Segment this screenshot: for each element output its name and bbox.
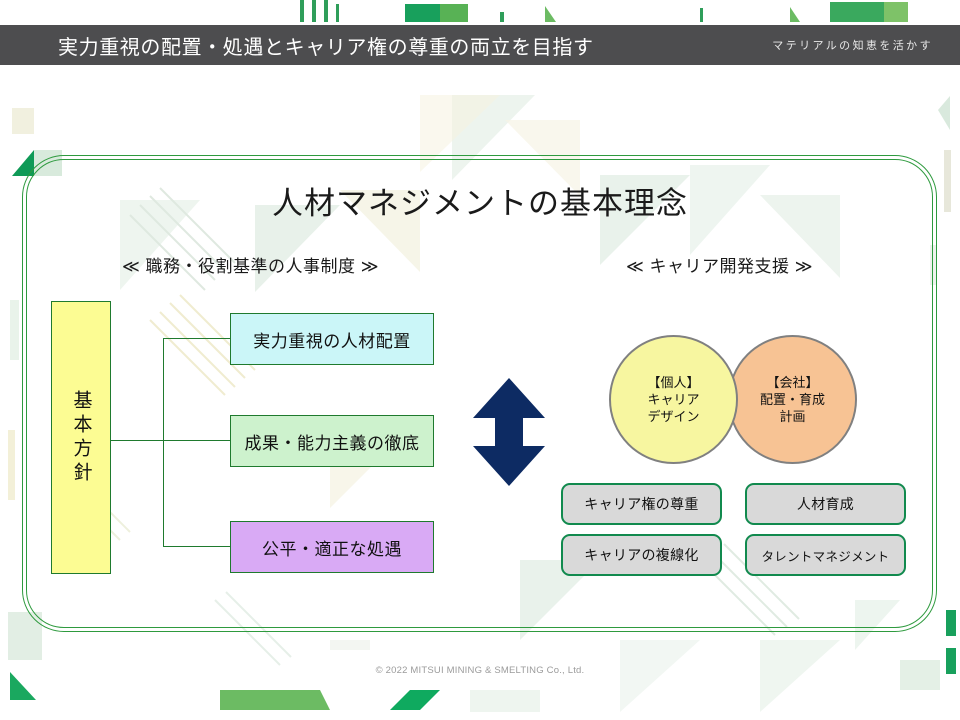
pillar-box-staffing: 実力重視の人材配置	[230, 313, 434, 365]
basic-policy-label: 基本方針	[72, 390, 91, 486]
pillar-box-fair-treatment: 公平・適正な処遇	[230, 521, 434, 573]
person-circle-line-2: キャリア	[647, 391, 699, 408]
double-arrow-svg	[459, 378, 559, 486]
header-tagline: マテリアルの知恵を活かす	[772, 37, 933, 53]
support-box-career-rights: キャリア権の尊重	[561, 483, 722, 525]
section-heading-right: ≪ キャリア開発支援 ≫	[626, 252, 813, 277]
person-circle: 【個人】 キャリア デザイン	[609, 335, 738, 464]
support-box-label: キャリア権の尊重	[584, 494, 698, 514]
support-box-hr-development: 人材育成	[745, 483, 906, 525]
person-circle-line-3: デザイン	[647, 408, 699, 425]
pillar-label: 成果・能力主義の徹底	[245, 429, 420, 454]
slide-canvas: 実力重視の配置・処遇とキャリア権の尊重の両立を目指す マテリアルの知恵を活かす …	[0, 0, 960, 720]
pillar-label: 公平・適正な処遇	[262, 535, 402, 560]
connector-branch-1	[163, 338, 231, 339]
pillar-box-meritocracy: 成果・能力主義の徹底	[230, 415, 434, 467]
footer-copyright: © 2022 MITSUI MINING & SMELTING Co., Ltd…	[0, 665, 960, 676]
header-title: 実力重視の配置・処遇とキャリア権の尊重の両立を目指す	[58, 31, 594, 60]
connector-branch-2	[163, 440, 231, 441]
support-box-label: キャリアの複線化	[584, 545, 698, 565]
pillar-label: 実力重視の人材配置	[253, 327, 411, 352]
person-circle-line-1: 【個人】	[647, 374, 699, 391]
basic-policy-box: 基本方針	[51, 301, 111, 574]
section-heading-left: ≪ 職務・役割基準の人事制度 ≫	[122, 252, 379, 277]
support-box-label: 人材育成	[797, 494, 854, 514]
connector-stem	[109, 440, 164, 441]
support-box-talent-management: タレントマネジメント	[745, 534, 906, 576]
page-title: 人材マネジメントの基本理念	[0, 178, 960, 223]
company-circle-line-1: 【会社】	[766, 374, 818, 391]
company-circle: 【会社】 配置・育成 計画	[728, 335, 857, 464]
header-bar: 実力重視の配置・処遇とキャリア権の尊重の両立を目指す マテリアルの知恵を活かす	[0, 25, 960, 65]
connector-trunk	[163, 338, 164, 546]
company-circle-line-2: 配置・育成	[760, 391, 825, 408]
support-box-label: タレントマネジメント	[761, 546, 889, 565]
company-circle-line-3: 計画	[779, 408, 805, 425]
connector-branch-3	[163, 546, 231, 547]
support-box-multi-track-career: キャリアの複線化	[561, 534, 722, 576]
double-arrow-vertical-icon	[459, 378, 559, 486]
